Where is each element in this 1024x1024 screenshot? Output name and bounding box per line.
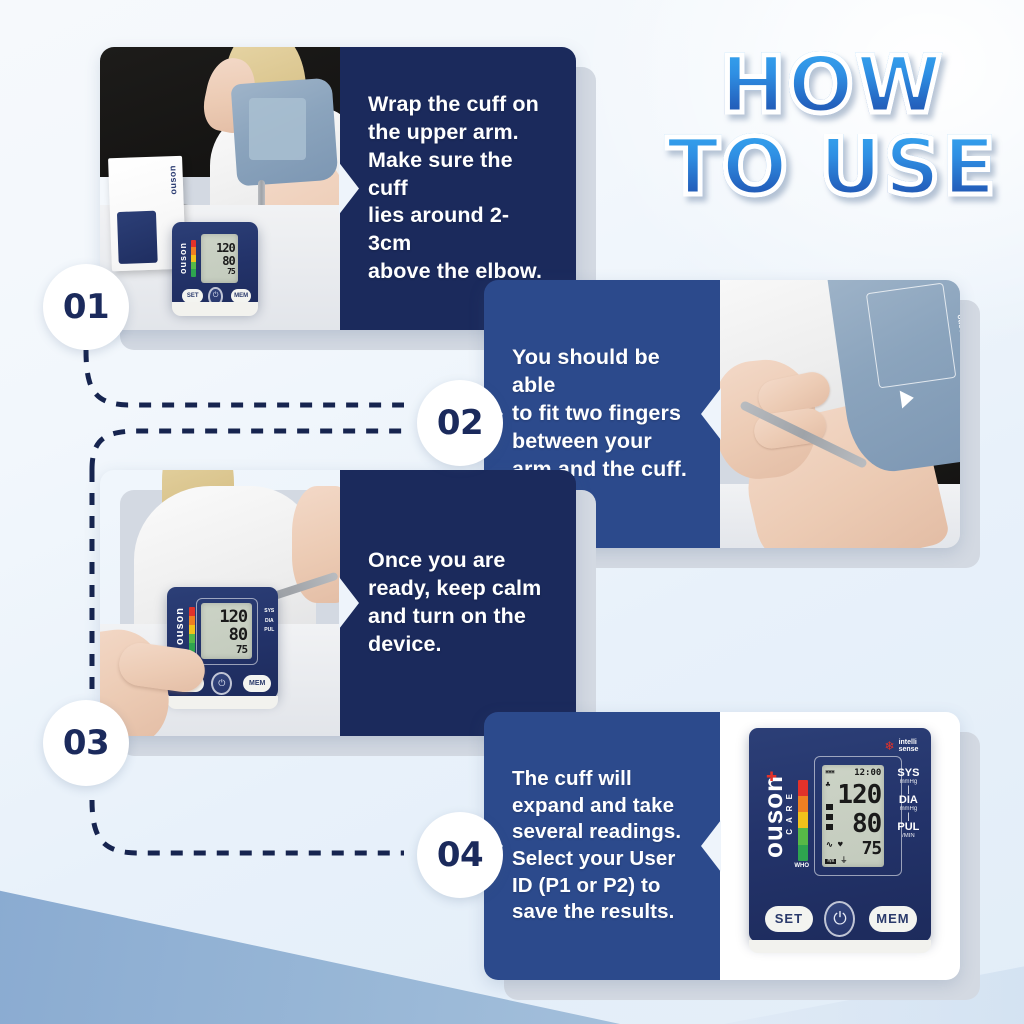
power-icon: ⏻ xyxy=(833,909,846,929)
scene-turn-on-device: 120 80 75 ouson SYSDIAPUL SET ⏻ xyxy=(100,470,340,736)
mem-button[interactable]: MEM xyxy=(869,906,916,932)
panel-notch-right-02 xyxy=(701,388,721,440)
step-badge-02[interactable]: 02 xyxy=(417,380,503,466)
card-inner-03: 120 80 75 ouson SYSDIAPUL SET ⏻ xyxy=(100,470,576,736)
label-dia: DIA xyxy=(895,794,922,806)
step-photo-02: ouson xyxy=(720,280,960,548)
who-indicator-bar xyxy=(798,780,808,861)
label-sys: SYS xyxy=(895,767,922,779)
step-badge-04[interactable]: 04 xyxy=(417,812,503,898)
unit-sys: mmHg xyxy=(895,779,922,785)
title-line-how: HOW xyxy=(640,48,1024,124)
step-card-04: The cuff will expand and take several re… xyxy=(484,712,960,980)
logo-line1: intelli xyxy=(899,739,917,746)
step-text-panel-03: Once you are ready, keep calm and turn o… xyxy=(340,470,576,736)
title-line-to-use: TO USE xyxy=(640,130,1024,206)
scene-two-fingers: ouson xyxy=(720,280,960,548)
step-badge-03[interactable]: 03 xyxy=(43,700,129,786)
step-text-04: The cuff will expand and take several re… xyxy=(512,766,681,926)
lcd-side-labels: SYS mmHg | DIA mmHg | PUL /MIN xyxy=(895,767,922,839)
step-text-01: Wrap the cuff on the upper arm. Make sur… xyxy=(368,91,550,287)
badge-notch-01 xyxy=(339,163,359,215)
set-button[interactable]: SET xyxy=(765,906,812,932)
step-text-03: Once you are ready, keep calm and turn o… xyxy=(368,547,541,659)
step-photo-03: 120 80 75 ouson SYSDIAPUL SET ⏻ xyxy=(100,470,340,736)
panel-notch-right-04 xyxy=(701,820,721,872)
unit-pul: /MIN xyxy=(895,833,922,839)
step-photo-04: ❄ intelli sense ouson C A R E ✚ xyxy=(720,712,960,980)
device-base xyxy=(749,940,931,953)
scene-wrap-cuff: ouson 120 80 75 ouson S xyxy=(100,47,340,330)
device-body: ❄ intelli sense ouson C A R E ✚ xyxy=(749,728,931,942)
who-label: WHO xyxy=(794,863,809,869)
step-photo-01: ouson 120 80 75 ouson S xyxy=(100,47,340,330)
scene-device-front: ❄ intelli sense ouson C A R E ✚ xyxy=(720,712,960,980)
logo-line2: sense xyxy=(899,746,919,753)
lcd-time: 12:00 xyxy=(854,769,881,778)
lcd-systolic: 120 xyxy=(837,782,881,808)
unit-dia: mmHg xyxy=(895,806,922,812)
label-pul: PUL xyxy=(895,821,922,833)
step-card-03: 120 80 75 ouson SYSDIAPUL SET ⏻ xyxy=(100,470,576,736)
step-text-02: You should be able to fit two fingers be… xyxy=(512,344,694,484)
lcd-pulse: 75 xyxy=(862,840,882,858)
step-text-panel-04: The cuff will expand and take several re… xyxy=(484,712,720,980)
lcd-screen: ▣▣▣ 12:00 ♣ 120 80 75 ∿ ♥ M/X ⏚ xyxy=(822,765,884,868)
badge-notch-03 xyxy=(339,577,359,629)
lcd-diastolic: 80 xyxy=(852,811,881,837)
intelli-sense-logo: ❄ intelli sense xyxy=(885,739,919,754)
step-badge-01[interactable]: 01 xyxy=(43,264,129,350)
card-inner-04: The cuff will expand and take several re… xyxy=(484,712,960,980)
power-button[interactable]: ⏻ xyxy=(824,901,855,937)
device-sub-brand: C A R E xyxy=(785,792,794,835)
page-title: HOW TO USE xyxy=(640,48,1024,207)
